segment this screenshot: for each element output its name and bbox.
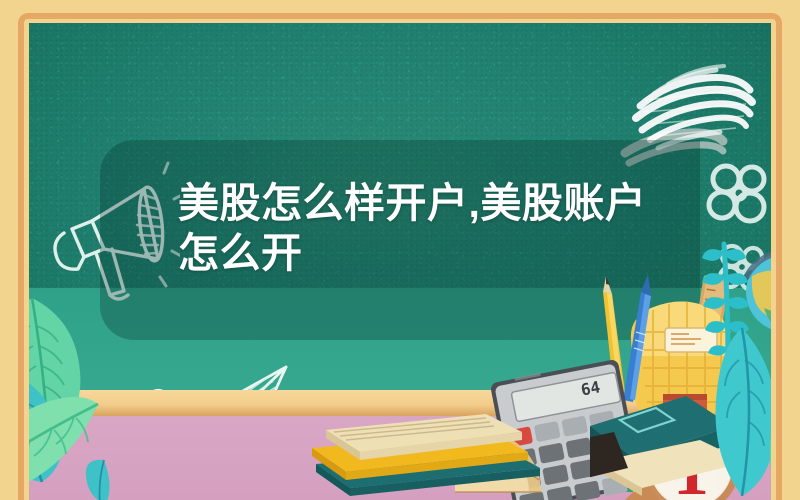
frame-top-strip <box>0 0 800 13</box>
plant-leaves-left <box>0 292 200 500</box>
frame-right-strip <box>771 13 800 500</box>
page-title: 美股怎么样开户,美股账户怎么开 <box>178 178 648 278</box>
stacked-books-left <box>290 402 570 500</box>
frame-left-strip <box>0 13 29 500</box>
poster-canvas: 美股怎么样开户,美股账户怎么开 <box>0 0 800 500</box>
